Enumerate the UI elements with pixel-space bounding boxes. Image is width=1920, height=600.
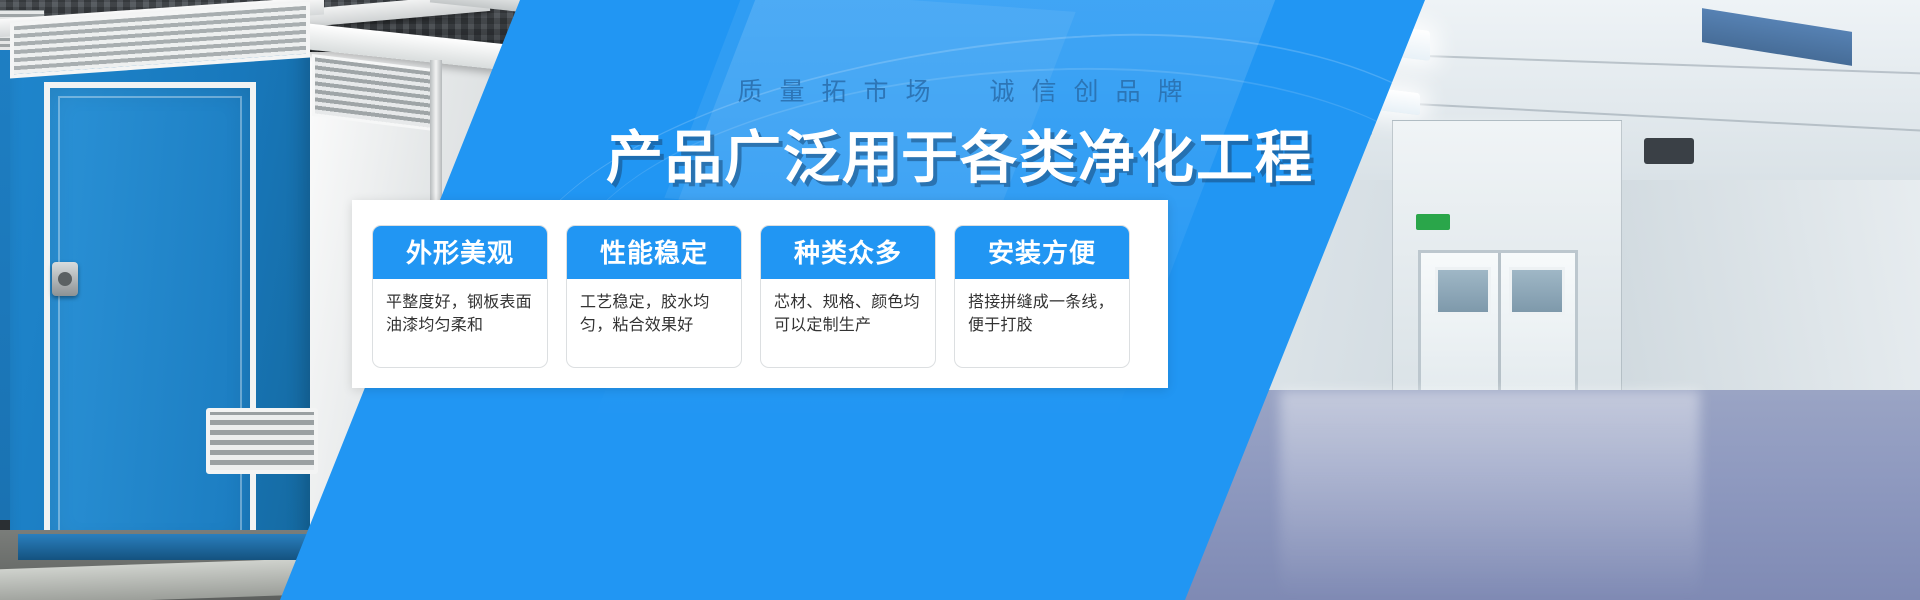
feature-card[interactable]: 安装方便 搭接拼缝成一条线，便于打胶 [954,225,1130,368]
exit-sign [1416,214,1450,230]
feature-cards-panel: 外形美观 平整度好，钢板表面油漆均匀柔和 性能稳定 工艺稳定，胶水均匀，粘合效果… [352,200,1168,388]
feature-card-title: 种类众多 [760,225,936,279]
feature-card-title: 性能稳定 [566,225,742,279]
door-window-right [1509,267,1565,315]
wall-mounted-unit [1644,138,1694,164]
feature-card[interactable]: 性能稳定 工艺稳定，胶水均匀，粘合效果好 [566,225,742,368]
cabin-door [44,82,256,552]
feature-card-body: 平整度好，钢板表面油漆均匀柔和 [373,279,547,348]
promo-banner: 质量拓市场 诚信创品牌 产品广泛用于各类净化工程 外形美观 平整度好，钢板表面油… [0,0,1920,600]
door-handle [52,262,78,296]
feature-card-body: 搭接拼缝成一条线，便于打胶 [955,279,1129,348]
door-window-left [1435,267,1491,315]
feature-card-title: 外形美观 [372,225,548,279]
floor-reflection [1280,390,1700,600]
feature-card-body: 芯材、规格、颜色均可以定制生产 [761,279,935,348]
cabin-base-skirt [18,534,314,560]
feature-card-title: 安装方便 [954,225,1130,279]
feature-card[interactable]: 外形美观 平整度好，钢板表面油漆均匀柔和 [372,225,548,368]
feature-card[interactable]: 种类众多 芯材、规格、颜色均可以定制生产 [760,225,936,368]
feature-card-body: 工艺稳定，胶水均匀，粘合效果好 [567,279,741,348]
door-vent-grille [206,408,318,474]
